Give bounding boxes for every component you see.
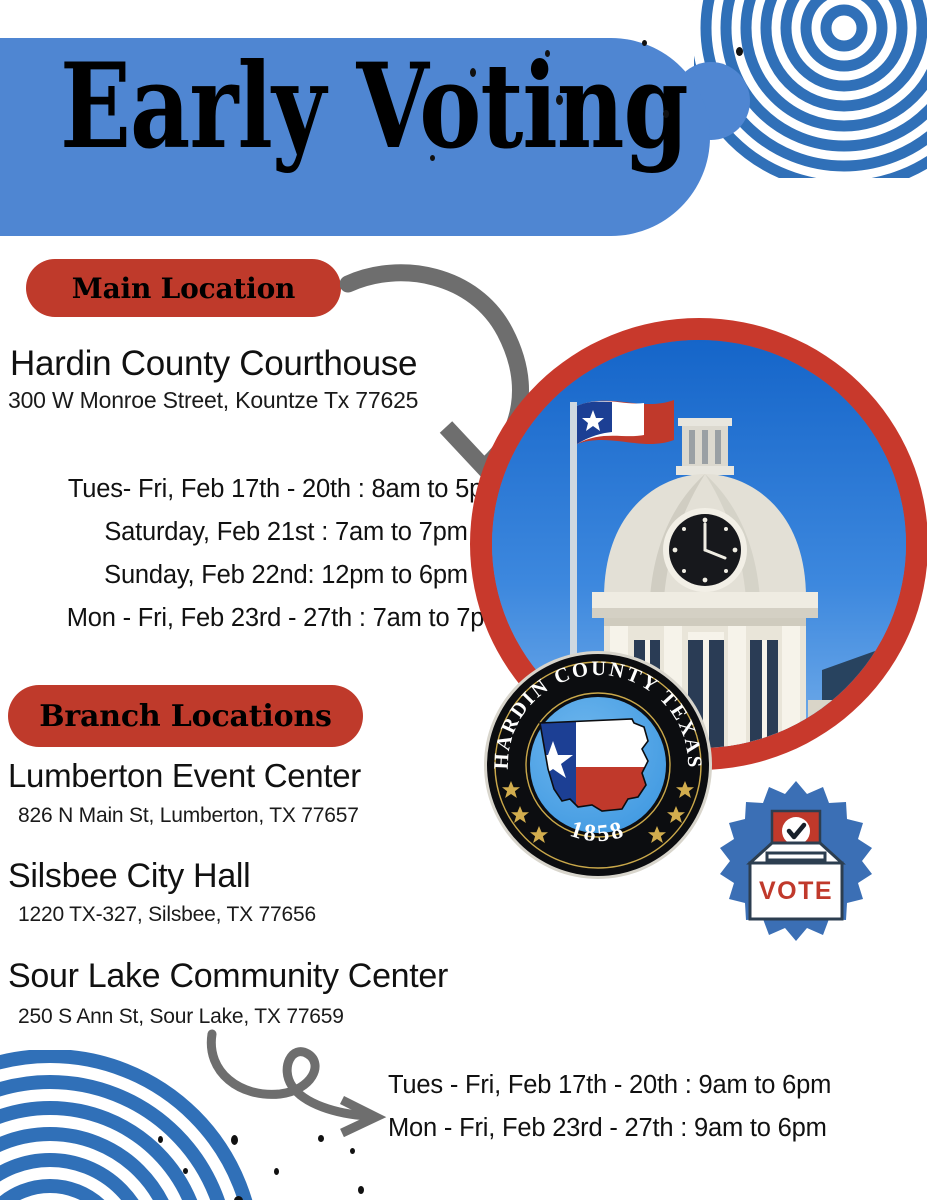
main-location-pill-label: Main Location [72,272,295,305]
ink-speck [736,47,743,56]
main-location-address: 300 W Monroe Street, Kountze Tx 77625 [8,387,418,414]
ink-speck [556,95,563,105]
branch-location-name: Silsbee City Hall [8,857,250,896]
hardin-county-seal: HARDIN COUNTY TEXAS 1858 [482,649,714,881]
looping-arrow-branch [196,1028,396,1153]
early-voting-flyer: Early Voting Main Location Hardin County… [0,0,927,1200]
ink-speck [358,1186,364,1194]
schedule-line: Mon - Fri, Feb 23rd - 27th : 9am to 6pm [388,1107,831,1150]
branch-locations-pill-label: Branch Locations [39,699,332,734]
ink-speck [350,1148,355,1154]
branch-locations-pill: Branch Locations [8,685,363,747]
ink-speck [642,40,647,46]
branch-location-address: 1220 TX-327, Silsbee, TX 77656 [18,903,316,927]
schedule-line: Tues - Fri, Feb 17th - 20th : 9am to 6pm [388,1064,831,1107]
page-title: Early Voting [60,48,688,165]
ink-speck [231,1135,238,1145]
ink-speck [430,155,435,161]
branch-location-address: 826 N Main St, Lumberton, TX 77657 [18,804,359,828]
ink-speck [318,1135,324,1142]
ink-speck [234,1196,243,1200]
ink-speck [158,1136,163,1143]
branch-location-name: Lumberton Event Center [8,757,361,795]
concentric-rings-bottom-left [0,1050,260,1200]
branch-location-name: Sour Lake Community Center [8,957,448,996]
vote-badge-label: VOTE [759,877,833,905]
main-location-pill: Main Location [26,259,341,317]
ink-speck [274,1168,279,1175]
main-location-name: Hardin County Courthouse [10,344,417,384]
ink-speck [545,50,550,57]
ink-speck [470,68,476,77]
ink-speck [663,110,669,118]
vote-badge: VOTE [710,779,882,951]
branch-location-address: 250 S Ann St, Sour Lake, TX 77659 [18,1005,344,1029]
ink-speck [183,1168,188,1174]
branch-locations-schedule: Tues - Fri, Feb 17th - 20th : 9am to 6pm… [388,1064,831,1150]
